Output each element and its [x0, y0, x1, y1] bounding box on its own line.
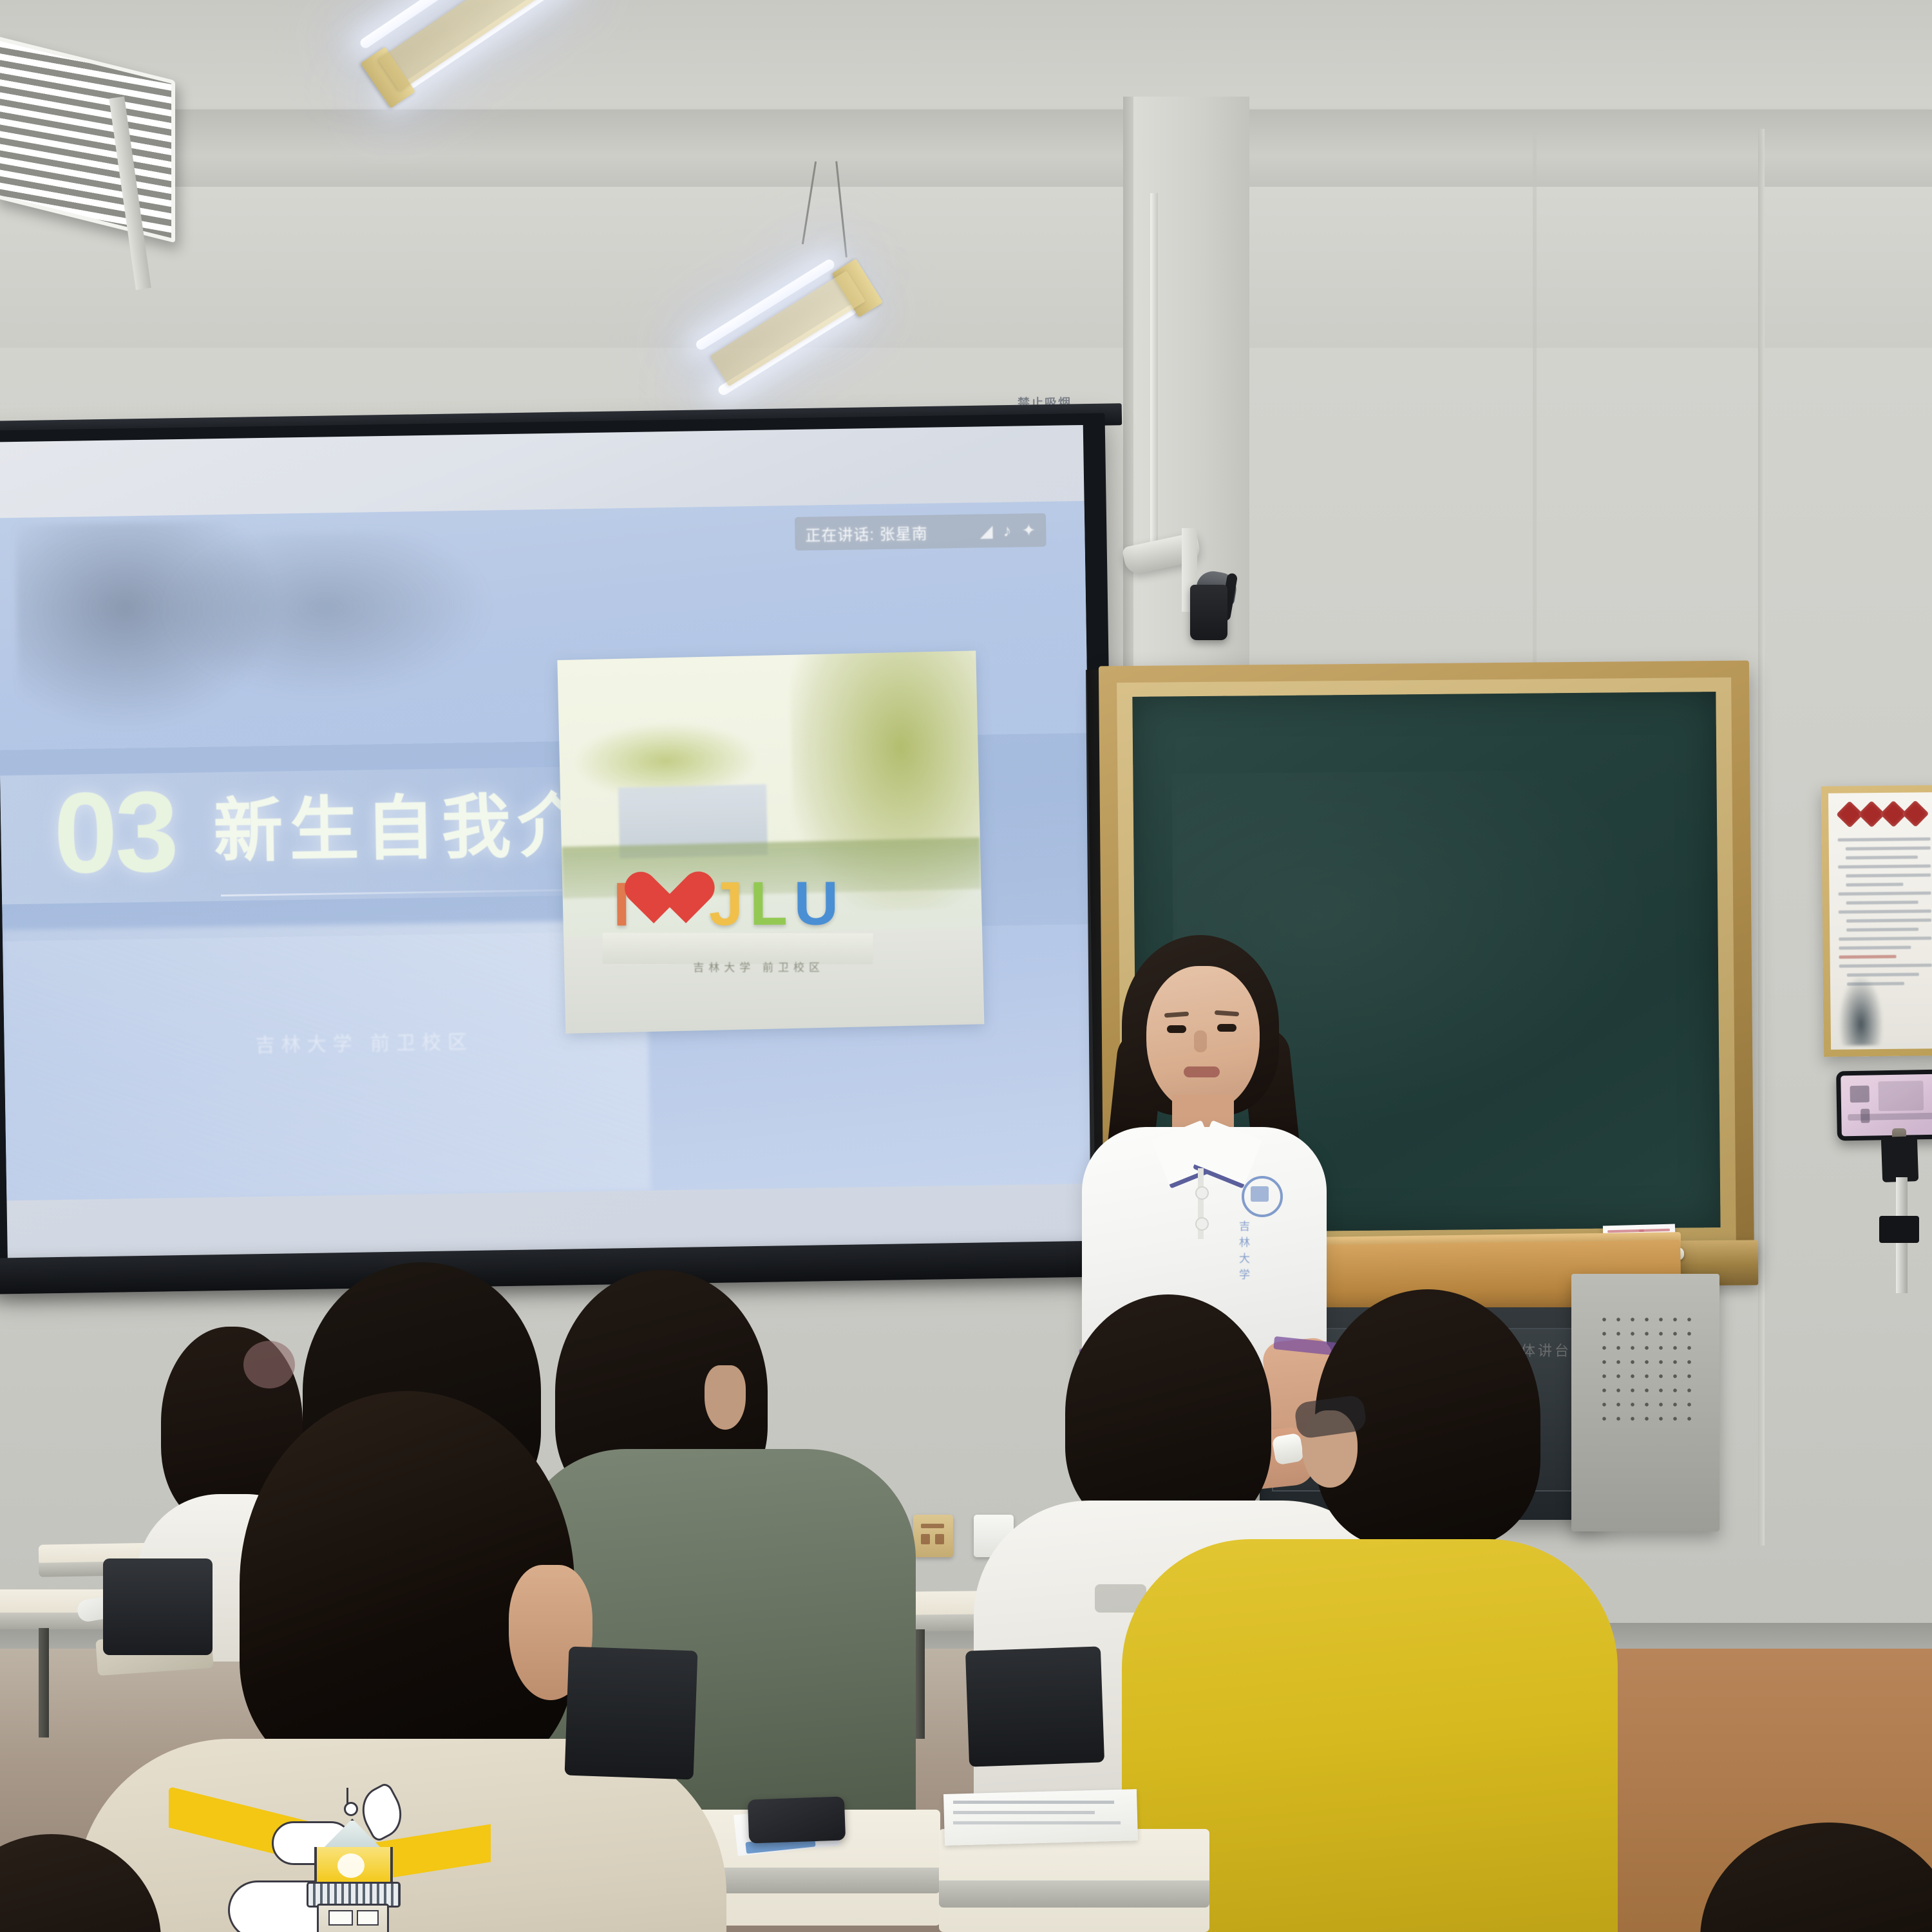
lighthouse-lamp: [337, 1853, 365, 1878]
slide-inset-photo: I J L U 吉林大学 前卫校区: [557, 650, 984, 1034]
student-5-hair: [1065, 1294, 1271, 1533]
poster-sheet: [1828, 792, 1932, 1050]
tshirt-lighthouse-graphic: [169, 1784, 491, 1932]
classroom-photo-scene: 禁止吸烟 吉林大学 前卫校区 03 新生自我介绍: [0, 0, 1932, 1932]
shirt-button: [1195, 1186, 1209, 1200]
i-love-jlu-sign: I J L U: [613, 872, 839, 933]
tripod-clamp[interactable]: [1879, 1216, 1919, 1243]
diamond-char-4: [1902, 800, 1929, 827]
heart-icon: [639, 873, 699, 928]
slide-watermark: 吉林大学 前卫校区: [255, 1026, 473, 1057]
desk-leg: [39, 1628, 49, 1738]
raise-hand-icon: ✦: [1021, 520, 1036, 540]
status-icon-group: ◢ ♪ ✦: [980, 520, 1036, 541]
shirt-logo-inner: [1251, 1186, 1269, 1202]
lighthouse-window: [357, 1910, 379, 1926]
poster-text-lines: [1838, 837, 1932, 991]
slide-bg-foliage: [157, 529, 495, 702]
chair-back: [965, 1646, 1104, 1766]
speaking-status-bar: 正在讲话: 张星南 ◢ ♪ ✦: [795, 513, 1046, 551]
booklet-text-line: [953, 1811, 1095, 1814]
audio-wave-icon: ◢: [980, 521, 992, 541]
framed-rules-poster: [1821, 785, 1932, 1057]
phone-screen[interactable]: [1841, 1074, 1932, 1137]
lighthouse-window: [328, 1910, 353, 1926]
data-socket-beige[interactable]: [913, 1515, 953, 1557]
speaker-grille: [1597, 1312, 1694, 1422]
sign-letter-l: L: [750, 876, 788, 932]
shirt-button: [1195, 1217, 1209, 1231]
poster-header-diamonds: [1840, 804, 1925, 824]
desk-smartphone[interactable]: [748, 1796, 846, 1843]
projection-screen: 吉林大学 前卫校区 03 新生自我介绍 I: [0, 413, 1118, 1287]
presenter-eye-left: [1167, 1025, 1186, 1033]
booklet-text-line: [953, 1821, 1121, 1824]
speaking-label: 正在讲话: 张星南: [805, 520, 928, 545]
ceiling-beam-secondary: [0, 187, 1932, 348]
ceiling-support-pipe: [1150, 193, 1158, 554]
right-desk-edge: [939, 1880, 1209, 1908]
desk-leg: [914, 1629, 925, 1739]
presenter-nose: [1194, 1030, 1207, 1052]
ceiling-beam: [0, 109, 1932, 187]
slide-content: 吉林大学 前卫校区 03 新生自我介绍 I: [0, 501, 1095, 1200]
presenter-wristwatch: [1272, 1433, 1305, 1466]
presenter-mouth: [1184, 1066, 1220, 1077]
slide-section-number: 03: [53, 774, 177, 891]
sign-letter-u: U: [793, 876, 838, 932]
slide-bg-path: [3, 920, 650, 1201]
presenter-eye-right: [1217, 1024, 1236, 1032]
poster-ink-illustration: [1838, 974, 1884, 1046]
chair-back: [103, 1558, 213, 1655]
student-1-hair-tie: [243, 1341, 295, 1388]
music-note-icon: ♪: [1003, 520, 1011, 540]
wall-seam: [1758, 129, 1765, 1546]
recording-phone[interactable]: [1836, 1070, 1932, 1141]
camera-body: [1190, 585, 1227, 640]
desk-booklet: [943, 1789, 1138, 1846]
screen-surface: 吉林大学 前卫校区 03 新生自我介绍 I: [0, 425, 1096, 1266]
booklet-text-line: [953, 1801, 1114, 1804]
student-4-ear: [705, 1365, 746, 1430]
sign-plinth-text: 吉林大学 前卫校区: [693, 958, 824, 974]
tripod-head[interactable]: [1881, 1136, 1918, 1182]
shirt-logo-text: 吉林大学: [1239, 1217, 1251, 1282]
lighthouse-rod: [346, 1788, 348, 1804]
chair-back: [565, 1647, 698, 1780]
podium-speaker-right: [1571, 1274, 1719, 1531]
